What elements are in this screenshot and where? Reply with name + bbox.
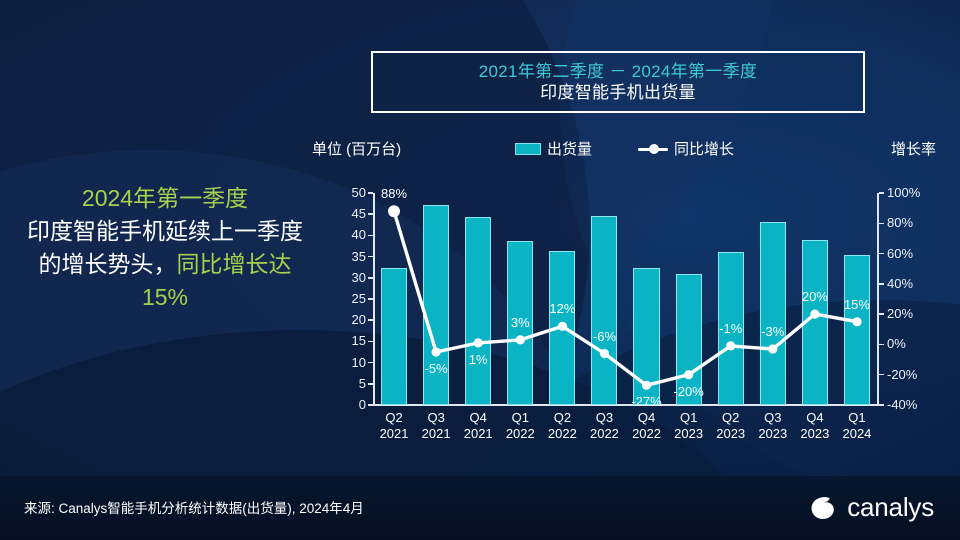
narrative-part-1: 2024年第一季度 [82,185,248,211]
right-axis-tick-label: 100% [887,185,937,200]
category-label-quarter: Q4 [623,410,671,426]
line-data-label: -20% [665,384,713,399]
category-label-quarter: Q2 [538,410,586,426]
category-label: Q22021 [370,410,418,442]
canalys-logo: canalys [808,492,934,522]
chart-title-period: 2021年第二季度 － 2024年第一季度 [479,61,757,82]
canalys-wordmark: canalys [847,494,934,520]
right-axis-tick-label: 0% [887,336,937,351]
category-label-quarter: Q1 [665,410,713,426]
category-label-year: 2021 [412,426,460,442]
line-data-label: 15% [833,297,881,312]
canalys-swirl-icon [808,492,838,522]
legend-bar-swatch-icon [515,143,541,155]
category-label-year: 2022 [496,426,544,442]
line-marker [432,347,441,356]
category-label: Q42021 [454,410,502,442]
legend-item-growth: 同比增长 [638,138,734,159]
line-marker [516,335,525,344]
legend-bar-label: 出货量 [547,138,592,159]
category-label: Q42023 [791,410,839,442]
line-marker [852,317,861,326]
line-marker [642,381,651,390]
line-marker [768,344,777,353]
line-data-label: -27% [623,394,671,409]
category-label-year: 2023 [791,426,839,442]
right-axis-tick-label: 20% [887,306,937,321]
category-label-quarter: Q3 [580,410,628,426]
right-axis-tick-label: -20% [887,367,937,382]
right-axis-tick-label: -40% [887,397,937,412]
line-marker [600,349,609,358]
line-data-label: -1% [707,321,755,336]
category-label-year: 2022 [580,426,628,442]
right-axis-title: 增长率 [891,138,936,159]
category-label: Q32023 [749,410,797,442]
category-label-quarter: Q4 [791,410,839,426]
slide-canvas: 2021年第二季度 － 2024年第一季度 印度智能手机出货量 单位 (百万台)… [0,0,960,540]
chart-title-box: 2021年第二季度 － 2024年第一季度 印度智能手机出货量 [371,51,865,113]
category-label: Q22023 [707,410,755,442]
combo-chart: 05101520253035404550 -40%-20%0%20%40%60%… [336,186,888,412]
line-marker [388,205,400,217]
category-label: Q42022 [623,410,671,442]
legend-line-marker-icon [638,143,668,155]
line-marker [810,310,819,319]
line-data-label: 20% [791,289,839,304]
category-label-quarter: Q1 [496,410,544,426]
category-label: Q12024 [833,410,881,442]
line-marker [726,341,735,350]
unit-label: 单位 (百万台) [312,138,401,159]
line-data-label: 12% [538,301,586,316]
line-data-label: -3% [749,324,797,339]
category-label-year: 2023 [749,426,797,442]
category-label-quarter: Q2 [707,410,755,426]
category-label-year: 2022 [623,426,671,442]
line-marker [684,370,693,379]
line-marker [474,338,483,347]
category-label: Q12022 [496,410,544,442]
chart-title-subject: 印度智能手机出货量 [540,82,696,103]
category-label-year: 2022 [538,426,586,442]
legend-item-shipments: 出货量 [515,138,592,159]
category-label: Q12023 [665,410,713,442]
line-data-label: 3% [496,315,544,330]
category-label: Q32021 [412,410,460,442]
category-label-quarter: Q4 [454,410,502,426]
category-label: Q22022 [538,410,586,442]
right-axis-tick-label: 80% [887,215,937,230]
category-label-year: 2024 [833,426,881,442]
category-label-year: 2021 [454,426,502,442]
category-label-year: 2021 [370,426,418,442]
category-label-quarter: Q3 [749,410,797,426]
category-label-year: 2023 [707,426,755,442]
source-note: 来源: Canalys智能手机分析统计数据(出货量), 2024年4月 [24,497,364,517]
line-data-label: -6% [580,329,628,344]
category-label-quarter: Q1 [833,410,881,426]
right-axis-tick-label: 60% [887,246,937,261]
line-data-label: 88% [370,186,418,201]
category-label-quarter: Q2 [370,410,418,426]
category-label-year: 2023 [665,426,713,442]
narrative-callout: 2024年第一季度 印度智能手机延续上一季度的增长势头，同比增长达15% [26,182,304,314]
category-label-quarter: Q3 [412,410,460,426]
right-axis-tick-label: 40% [887,276,937,291]
legend-line-label: 同比增长 [674,138,734,159]
chart-legend: 单位 (百万台) 出货量 同比增长 增长率 [300,136,940,162]
line-data-label: 1% [454,352,502,367]
line-marker [558,322,567,331]
line-data-label: -5% [412,361,460,376]
category-label: Q32022 [580,410,628,442]
